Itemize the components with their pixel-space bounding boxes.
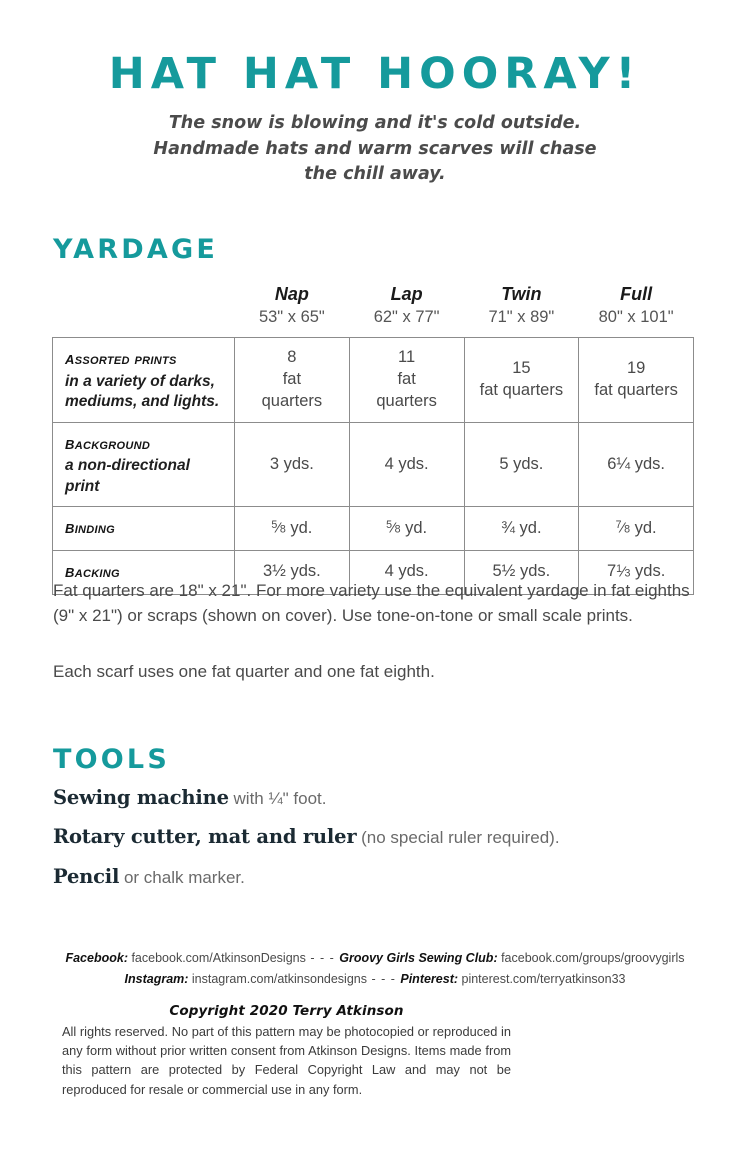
yardage-note-scarf: Each scarf uses one fat quarter and one … <box>53 660 693 685</box>
column-name: Full <box>583 284 690 305</box>
social-line-instagram: Instagram: instagram.com/atkinsondesigns… <box>0 969 750 990</box>
cell-background-twin: 5 yds. <box>464 422 579 507</box>
cell-value: 5 yds. <box>475 454 569 476</box>
cell-unit-line: fat quarters <box>589 380 683 402</box>
cell-background-full: 6¼ yds. <box>579 422 694 507</box>
cell-binding-full: 7⁄8 yd. <box>579 507 694 551</box>
cell-value: 7 <box>607 562 616 580</box>
row-title: Background <box>65 432 228 457</box>
column-dimensions: 62" x 77" <box>353 307 460 328</box>
yardage-table: Nap 53" x 65" Lap 62" x 77" Twin 71" x 8… <box>52 284 694 595</box>
cell-value: 6¼ yds. <box>589 454 683 476</box>
fraction: 7⁄8 <box>616 520 630 536</box>
cell-unit: yds. <box>630 562 665 580</box>
cell-assorted-prints-full: 19 fat quarters <box>579 338 694 423</box>
cell-unit: yd. <box>400 519 427 537</box>
social-url-pinterest[interactable]: pinterest.com/terryatkinson33 <box>458 972 625 986</box>
social-links: Facebook: facebook.com/AtkinsonDesigns -… <box>0 948 750 989</box>
row-label-binding: Binding <box>53 507 235 551</box>
cell-value: 19 <box>589 358 683 380</box>
tool-name: Sewing machine <box>53 786 229 809</box>
page-subtitle: The snow is blowing and it's cold outsid… <box>135 111 615 187</box>
tool-description: or chalk marker. <box>119 868 245 887</box>
column-name: Lap <box>353 284 460 305</box>
masthead: HAT HAT HOORAY! The snow is blowing and … <box>0 0 750 187</box>
row-description-line: a non-directional <box>65 456 228 476</box>
cell-value: 4 yds. <box>360 454 454 476</box>
page-title: HAT HAT HOORAY! <box>0 52 750 97</box>
fraction: 5⁄8 <box>386 520 400 536</box>
tools-heading: TOOLS <box>53 744 170 775</box>
cell-unit: yd. <box>286 519 313 537</box>
fraction-denominator: 8 <box>280 524 286 536</box>
fraction: 1⁄3 <box>616 564 630 580</box>
row-label-assorted-prints: Assorted Prints in a variety of darks, m… <box>53 338 235 423</box>
copyright-title: Copyright 2020 Terry Atkinson <box>62 1003 511 1019</box>
cell-background-nap: 3 yds. <box>235 422 350 507</box>
row-description-line: mediums, and lights. <box>65 392 228 412</box>
tool-description: (no special ruler required). <box>356 828 559 847</box>
tool-name: Pencil <box>53 865 119 888</box>
yardage-note-fat-quarters: Fat quarters are 18" x 21". For more var… <box>53 579 693 629</box>
pattern-page: HAT HAT HOORAY! The snow is blowing and … <box>0 0 750 1159</box>
social-separator: - - - <box>367 972 400 986</box>
cell-unit: yd. <box>630 519 657 537</box>
cell-unit-line: quarters <box>245 391 339 413</box>
cell-value: ¾ yd. <box>475 518 569 540</box>
corner-cell <box>53 284 235 338</box>
table-row: Binding 5⁄8 yd. 5⁄8 yd. ¾ yd. 7⁄8 yd. <box>53 507 694 551</box>
cell-unit-line: fat <box>360 369 454 391</box>
row-label-background: Background a non-directional print <box>53 422 235 507</box>
copyright-body: All rights reserved. No part of this pat… <box>62 1022 511 1099</box>
social-label-groovy-girls: Groovy Girls Sewing Club: <box>339 951 497 965</box>
column-header-full: Full 80" x 101" <box>579 284 694 338</box>
fraction-denominator: 8 <box>395 524 401 536</box>
cell-unit-line: fat <box>245 369 339 391</box>
table-header-row: Nap 53" x 65" Lap 62" x 77" Twin 71" x 8… <box>53 284 694 338</box>
list-item: Rotary cutter, mat and ruler (no special… <box>53 824 693 850</box>
cell-binding-lap: 5⁄8 yd. <box>349 507 464 551</box>
social-url-groovy-girls[interactable]: facebook.com/groups/groovygirls <box>498 951 685 965</box>
list-item: Pencil or chalk marker. <box>53 864 693 890</box>
column-name: Twin <box>468 284 575 305</box>
tools-section-header: TOOLS <box>53 744 170 775</box>
cell-assorted-prints-lap: 11 fat quarters <box>349 338 464 423</box>
fraction: 5⁄8 <box>271 520 285 536</box>
column-name: Nap <box>239 284 346 305</box>
cell-value: 8 <box>245 347 339 369</box>
yardage-table-body: Assorted Prints in a variety of darks, m… <box>53 338 694 595</box>
column-dimensions: 71" x 89" <box>468 307 575 328</box>
column-header-twin: Twin 71" x 89" <box>464 284 579 338</box>
social-line-facebook: Facebook: facebook.com/AtkinsonDesigns -… <box>0 948 750 969</box>
row-title: Binding <box>65 516 228 541</box>
cell-background-lap: 4 yds. <box>349 422 464 507</box>
yardage-table-container: Nap 53" x 65" Lap 62" x 77" Twin 71" x 8… <box>52 284 693 595</box>
tools-list: Sewing machine with ¼" foot. Rotary cutt… <box>53 785 693 903</box>
cell-assorted-prints-twin: 15 fat quarters <box>464 338 579 423</box>
row-title: Assorted Prints <box>65 347 228 372</box>
yardage-table-head: Nap 53" x 65" Lap 62" x 77" Twin 71" x 8… <box>53 284 694 338</box>
cell-unit-line: quarters <box>360 391 454 413</box>
tool-description: with ¼" foot. <box>229 789 327 808</box>
column-dimensions: 80" x 101" <box>583 307 690 328</box>
social-label-pinterest: Pinterest: <box>400 972 458 986</box>
cell-binding-twin: ¾ yd. <box>464 507 579 551</box>
cell-value: 11 <box>360 347 454 369</box>
column-dimensions: 53" x 65" <box>239 307 346 328</box>
yardage-heading: YARDAGE <box>53 234 218 265</box>
cell-unit-line: fat quarters <box>475 380 569 402</box>
social-separator: - - - <box>306 951 339 965</box>
social-label-facebook: Facebook: <box>65 951 128 965</box>
social-label-instagram: Instagram: <box>125 972 189 986</box>
fraction-denominator: 3 <box>625 568 631 580</box>
cell-value: 3 yds. <box>245 454 339 476</box>
column-header-nap: Nap 53" x 65" <box>235 284 350 338</box>
cell-assorted-prints-nap: 8 fat quarters <box>235 338 350 423</box>
yardage-section-header: YARDAGE <box>53 234 218 265</box>
cell-binding-nap: 5⁄8 yd. <box>235 507 350 551</box>
social-url-instagram[interactable]: instagram.com/atkinsondesigns <box>188 972 367 986</box>
list-item: Sewing machine with ¼" foot. <box>53 785 693 811</box>
cell-value: 15 <box>475 358 569 380</box>
copyright-block: Copyright 2020 Terry Atkinson All rights… <box>62 1003 511 1099</box>
row-description-line: in a variety of darks, <box>65 372 228 392</box>
fraction-denominator: 8 <box>624 524 630 536</box>
table-row: Assorted Prints in a variety of darks, m… <box>53 338 694 423</box>
tool-name: Rotary cutter, mat and ruler <box>53 825 356 848</box>
table-row: Background a non-directional print 3 yds… <box>53 422 694 507</box>
row-description-line: print <box>65 477 228 497</box>
column-header-lap: Lap 62" x 77" <box>349 284 464 338</box>
social-url-facebook[interactable]: facebook.com/AtkinsonDesigns <box>128 951 306 965</box>
